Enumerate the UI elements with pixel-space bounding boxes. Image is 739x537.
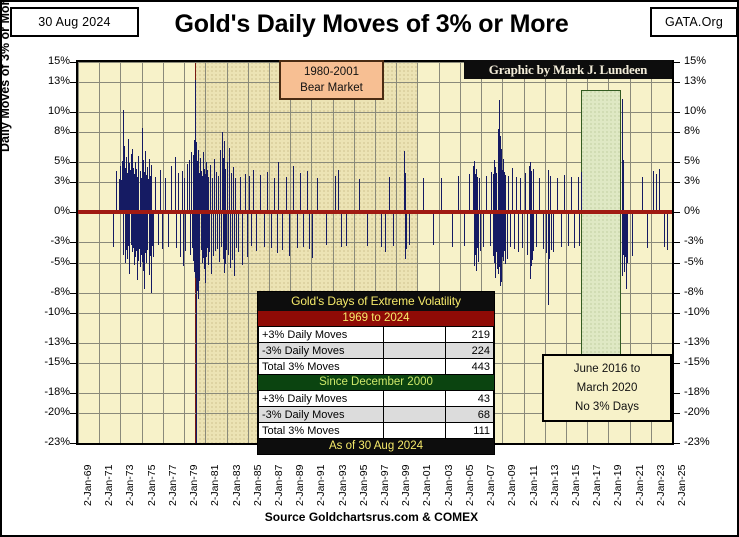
data-bar: [242, 212, 243, 264]
y-axis-label: -20%: [22, 407, 70, 418]
data-bar: [536, 212, 537, 247]
data-bar: [381, 212, 382, 247]
data-bar: [385, 212, 386, 252]
data-bar: [289, 212, 290, 255]
y-axis-label: -5%: [22, 257, 70, 268]
vertical-gridline: [672, 62, 673, 443]
y-axis-tick: [70, 132, 76, 133]
data-bar: [256, 212, 257, 251]
data-bar: [561, 212, 562, 247]
data-bar: [512, 168, 513, 212]
data-bar: [543, 212, 544, 249]
data-bar: [219, 212, 220, 261]
x-axis-label: 2-Jan-69: [82, 465, 94, 506]
y-axis-label: 13%: [684, 76, 734, 87]
data-bar: [568, 212, 569, 246]
bear-market-annotation: 1980-2001 Bear Market: [279, 60, 384, 100]
y-axis-label: 0%: [22, 206, 70, 217]
row-value: 224: [446, 343, 494, 359]
data-bar: [212, 178, 213, 212]
data-bar: [274, 178, 275, 212]
x-axis-label: 2-Jan-05: [464, 465, 476, 506]
data-bar: [184, 178, 185, 212]
stats-table-title: Gold's Days of Extreme Volatility: [258, 292, 494, 311]
data-bar: [229, 148, 230, 212]
data-bar: [480, 212, 481, 251]
row-label: -3% Daily Moves: [259, 407, 384, 423]
data-bar: [251, 212, 252, 246]
y-axis-tick: [70, 343, 76, 344]
x-axis-label: 2-Jan-71: [103, 465, 115, 506]
data-bar: [303, 212, 304, 247]
y-axis-tick: [674, 242, 680, 243]
y-axis-label: -8%: [22, 287, 70, 298]
data-bar: [571, 177, 572, 212]
row-value: 68: [446, 407, 494, 423]
vertical-gridline: [248, 62, 249, 443]
y-axis-title: Daily Moves of 3% or More: [0, 0, 12, 152]
y-axis-tick: [70, 112, 76, 113]
x-axis-label: 2-Jan-95: [358, 465, 370, 506]
y-axis-label: 3%: [22, 176, 70, 187]
x-axis-label: 2-Jan-03: [443, 465, 455, 506]
y-axis-tick: [674, 82, 680, 83]
data-bar: [433, 212, 434, 245]
data-bar: [335, 176, 336, 212]
x-axis-label: 2-Jan-23: [655, 465, 667, 506]
data-bar: [235, 178, 236, 212]
stats-section1-table: +3% Daily Moves 219 -3% Daily Moves 224 …: [258, 326, 494, 375]
data-bar: [551, 212, 552, 250]
y-axis-tick: [674, 293, 680, 294]
y-axis-tick: [70, 162, 76, 163]
y-axis-tick: [70, 242, 76, 243]
no-3pct-days-annotation: June 2016 to March 2020 No 3% Days: [542, 354, 672, 422]
y-axis-tick: [674, 112, 680, 113]
data-bar: [183, 212, 184, 265]
x-axis-label: 2-Jan-09: [506, 465, 518, 506]
data-bar: [518, 212, 519, 252]
data-bar: [253, 170, 254, 212]
data-bar: [505, 175, 506, 212]
row-value: 43: [446, 391, 494, 407]
data-bar: [478, 212, 479, 261]
y-axis-label: -23%: [22, 437, 70, 448]
stats-section2-table: +3% Daily Moves 43 -3% Daily Moves 68 To…: [258, 390, 494, 439]
y-axis-tick: [70, 393, 76, 394]
data-bar: [165, 178, 166, 212]
data-bar: [346, 212, 347, 246]
data-bar: [236, 212, 237, 248]
vertical-gridline: [184, 62, 185, 443]
stats-table-footer: As of 30 Aug 2024: [258, 439, 494, 454]
y-axis-label: 13%: [22, 76, 70, 87]
stats-section2-header: Since December 2000: [258, 375, 494, 390]
row-label: Total 3% Moves: [259, 359, 384, 375]
data-bar: [507, 212, 508, 258]
y-axis-tick: [674, 413, 680, 414]
data-bar: [220, 150, 221, 212]
data-bar: [155, 177, 156, 212]
data-bar: [522, 212, 523, 248]
y-axis-tick: [674, 393, 680, 394]
x-axis-label: 2-Jan-81: [209, 465, 221, 506]
data-bar: [508, 176, 509, 212]
data-bar: [178, 173, 179, 212]
y-axis-label: 5%: [22, 156, 70, 167]
row-spacer: [384, 327, 446, 343]
y-axis-tick: [674, 182, 680, 183]
table-row: +3% Daily Moves 43: [259, 391, 494, 407]
data-bar: [409, 212, 410, 245]
data-bar: [182, 171, 183, 212]
data-bar: [656, 174, 657, 212]
y-axis-label: 8%: [22, 126, 70, 137]
y-axis-tick: [674, 363, 680, 364]
y-axis-tick: [70, 413, 76, 414]
data-bar: [514, 212, 515, 249]
data-bar: [458, 176, 459, 212]
graphic-credit-banner: Graphic by Mark J. Lundeen: [464, 60, 672, 79]
data-bar: [113, 212, 114, 247]
data-bar: [667, 212, 668, 250]
y-axis-tick: [674, 162, 680, 163]
data-bar: [469, 174, 470, 212]
y-axis-label: 15%: [684, 56, 734, 67]
table-row: Total 3% Moves 111: [259, 423, 494, 439]
y-axis-tick: [70, 443, 76, 444]
y-axis-label: -13%: [22, 337, 70, 348]
data-bar: [233, 167, 234, 212]
y-axis-tick: [674, 343, 680, 344]
data-bar: [238, 212, 239, 252]
x-axis-label: 2-Jan-13: [549, 465, 561, 506]
y-axis-label: 0%: [684, 206, 734, 217]
data-bar: [227, 162, 228, 212]
x-axis-label: 2-Jan-75: [146, 465, 158, 506]
y-axis-label: -15%: [684, 357, 734, 368]
vertical-gridline: [78, 62, 79, 443]
y-axis-tick: [674, 443, 680, 444]
data-bar: [405, 173, 406, 212]
x-axis-label: 2-Jan-07: [485, 465, 497, 506]
x-axis-label: 2-Jan-99: [400, 465, 412, 506]
bear-market-years: 1980-2001: [304, 64, 359, 80]
data-bar: [271, 212, 272, 248]
y-axis-tick: [70, 62, 76, 63]
data-bar: [217, 212, 218, 249]
gata-org-box: GATA.Org: [650, 7, 738, 37]
row-label: -3% Daily Moves: [259, 343, 384, 359]
data-bar: [286, 177, 287, 212]
data-bar: [278, 162, 279, 212]
y-axis-tick: [70, 263, 76, 264]
data-bar: [260, 175, 261, 212]
data-bar: [326, 212, 327, 245]
data-bar: [247, 212, 248, 256]
no-days-line1: June 2016 to: [574, 360, 641, 379]
data-bar: [187, 164, 188, 212]
x-axis-label: 2-Jan-73: [124, 465, 136, 506]
y-axis-label: 3%: [684, 176, 734, 187]
x-axis-label: 2-Jan-97: [379, 465, 391, 506]
data-bar: [550, 176, 551, 212]
y-axis-label: -3%: [22, 236, 70, 247]
x-axis-label: 2-Jan-17: [591, 465, 603, 506]
data-bar: [175, 157, 176, 212]
y-axis-tick: [70, 313, 76, 314]
table-row: -3% Daily Moves 224: [259, 343, 494, 359]
y-axis-tick: [70, 82, 76, 83]
data-bar: [491, 172, 492, 212]
data-bar: [653, 171, 654, 212]
y-axis-tick: [70, 182, 76, 183]
stats-section1-header: 1969 to 2024: [258, 311, 494, 326]
data-bar: [189, 160, 190, 212]
row-spacer: [384, 359, 446, 375]
source-label: Source Goldchartsrus.com & COMEX: [2, 510, 739, 524]
y-axis-tick: [674, 212, 680, 213]
data-bar: [527, 212, 528, 254]
row-label: Total 3% Moves: [259, 423, 384, 439]
row-spacer: [384, 423, 446, 439]
data-bar: [574, 212, 575, 248]
data-bar: [486, 176, 487, 212]
y-axis-label: -20%: [684, 407, 734, 418]
y-axis-label: 10%: [684, 106, 734, 117]
data-bar: [510, 212, 511, 247]
bear-market-label: Bear Market: [300, 80, 363, 96]
data-bar: [578, 177, 579, 212]
data-bar: [160, 170, 161, 212]
data-bar: [228, 212, 229, 254]
y-axis-label: -18%: [684, 387, 734, 398]
y-axis-label: -18%: [22, 387, 70, 398]
data-bar: [664, 212, 665, 247]
data-bar: [406, 212, 407, 249]
data-bar: [525, 173, 526, 212]
vertical-gridline: [524, 62, 525, 443]
table-row: -3% Daily Moves 68: [259, 407, 494, 423]
data-bar: [210, 165, 211, 212]
data-bar: [549, 212, 550, 258]
data-bar: [216, 172, 217, 212]
y-axis-label: -10%: [684, 307, 734, 318]
row-spacer: [384, 407, 446, 423]
data-bar: [215, 212, 216, 251]
y-axis-tick: [70, 363, 76, 364]
x-axis-label: 2-Jan-89: [294, 465, 306, 506]
x-axis-label: 2-Jan-91: [315, 465, 327, 506]
data-bar: [230, 212, 231, 267]
y-axis-label: 15%: [22, 56, 70, 67]
y-axis-label: 8%: [684, 126, 734, 137]
data-bar: [249, 176, 250, 212]
data-bar: [539, 178, 540, 212]
data-bar: [277, 212, 278, 253]
data-bar: [267, 172, 268, 212]
data-bar: [546, 212, 547, 253]
row-value: 219: [446, 327, 494, 343]
data-bar: [627, 212, 628, 262]
data-bar: [312, 212, 313, 257]
data-bar: [176, 212, 177, 248]
data-bar: [307, 171, 308, 212]
data-bar: [553, 212, 554, 252]
data-bar: [297, 212, 298, 248]
y-axis-tick: [70, 293, 76, 294]
data-bar: [389, 177, 390, 212]
data-bar: [309, 212, 310, 249]
x-axis-label: 2-Jan-21: [634, 465, 646, 506]
x-axis-label: 2-Jan-79: [188, 465, 200, 506]
row-spacer: [384, 391, 446, 407]
x-axis-label: 2-Jan-85: [252, 465, 264, 506]
data-bar: [151, 165, 152, 212]
data-bar: [367, 212, 368, 246]
data-bar: [632, 212, 633, 255]
data-bar: [423, 178, 424, 212]
data-bar: [642, 177, 643, 212]
data-bar: [647, 212, 648, 248]
data-bar: [341, 212, 342, 247]
y-axis-label: -10%: [22, 307, 70, 318]
y-axis-tick: [674, 313, 680, 314]
data-bar: [623, 160, 624, 212]
data-bar: [232, 212, 233, 259]
y-axis-tick: [674, 132, 680, 133]
data-bar: [533, 212, 534, 251]
y-axis-tick: [674, 62, 680, 63]
data-bar: [659, 169, 660, 212]
data-bar: [116, 171, 117, 212]
data-bar: [317, 178, 318, 212]
vertical-gridline: [120, 62, 121, 443]
stats-table: Gold's Days of Extreme Volatility 1969 t…: [257, 291, 495, 455]
data-bar: [162, 212, 163, 249]
data-bar: [293, 166, 294, 212]
x-axis-label: 2-Jan-01: [421, 465, 433, 506]
data-bar: [211, 212, 212, 273]
data-bar: [393, 212, 394, 246]
data-bar: [245, 174, 246, 212]
table-row: Total 3% Moves 443: [259, 359, 494, 375]
row-label: +3% Daily Moves: [259, 327, 384, 343]
data-bar: [464, 212, 465, 246]
table-row: +3% Daily Moves 219: [259, 327, 494, 343]
no-3pct-days-band: [581, 90, 621, 358]
x-axis-label: 2-Jan-93: [337, 465, 349, 506]
data-bar: [564, 175, 565, 212]
data-bar: [581, 172, 582, 212]
data-bar: [171, 166, 172, 212]
data-bar: [213, 212, 214, 255]
data-bar: [533, 169, 534, 212]
y-axis-label: -5%: [684, 257, 734, 268]
data-bar: [168, 212, 169, 247]
data-bar: [338, 170, 339, 212]
data-bar: [214, 159, 215, 212]
data-bar: [490, 212, 491, 246]
data-bar: [479, 178, 480, 212]
data-bar: [300, 173, 301, 212]
page-title: Gold's Daily Moves of 3% or More: [2, 10, 739, 39]
data-bar: [282, 212, 283, 250]
data-bar: [158, 212, 159, 245]
row-label: +3% Daily Moves: [259, 391, 384, 407]
data-bar: [185, 212, 186, 251]
data-bar: [579, 212, 580, 246]
y-axis-label: 10%: [22, 106, 70, 117]
data-bar: [180, 212, 181, 256]
gata-org-label: GATA.Org: [665, 15, 723, 29]
data-bar: [153, 212, 154, 256]
data-bar: [452, 212, 453, 247]
x-axis-label: 2-Jan-87: [273, 465, 285, 506]
y-axis-label: -23%: [684, 437, 734, 448]
x-axis-label: 2-Jan-83: [231, 465, 243, 506]
y-axis-label: -15%: [22, 357, 70, 368]
data-bar: [218, 176, 219, 212]
no-days-line3: No 3% Days: [575, 398, 639, 417]
no-days-line2: March 2020: [577, 379, 638, 398]
y-axis-label: -13%: [684, 337, 734, 348]
data-bar: [516, 177, 517, 212]
y-axis-label: -8%: [684, 287, 734, 298]
data-bar: [264, 212, 265, 247]
row-value: 443: [446, 359, 494, 375]
data-bar: [240, 177, 241, 212]
x-axis-label: 2-Jan-25: [676, 465, 688, 506]
x-axis-label: 2-Jan-11: [528, 465, 540, 506]
y-axis-tick: [70, 212, 76, 213]
y-axis-tick: [674, 263, 680, 264]
data-bar: [520, 178, 521, 212]
vertical-gridline: [163, 62, 164, 443]
chart-frame: 30 Aug 2024 Gold's Daily Moves of 3% or …: [0, 0, 739, 537]
x-axis-label: 2-Jan-15: [570, 465, 582, 506]
data-bar: [483, 212, 484, 247]
data-bar: [441, 178, 442, 212]
row-spacer: [384, 343, 446, 359]
vertical-gridline: [99, 62, 100, 443]
data-bar: [359, 179, 360, 212]
zero-reference-line: [78, 210, 672, 214]
data-bar: [234, 212, 235, 275]
data-bar: [231, 173, 232, 212]
y-axis-label: 5%: [684, 156, 734, 167]
data-bar: [557, 178, 558, 212]
y-axis-label: -3%: [684, 236, 734, 247]
row-value: 111: [446, 423, 494, 439]
x-axis-label: 2-Jan-77: [167, 465, 179, 506]
x-axis-label: 2-Jan-19: [612, 465, 624, 506]
